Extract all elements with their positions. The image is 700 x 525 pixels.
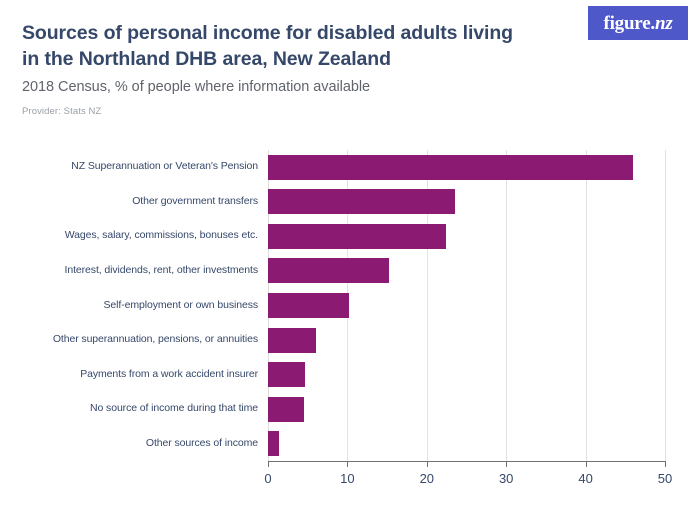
x-tick-label-10: 10 — [340, 471, 354, 486]
bar[interactable] — [268, 258, 389, 283]
bar[interactable] — [268, 293, 349, 318]
x-tick-label-0: 0 — [264, 471, 271, 486]
bar[interactable] — [268, 431, 279, 456]
category-label: NZ Superannuation or Veteran's Pension — [8, 160, 258, 172]
chart-header: figure.nz Sources of personal income for… — [0, 0, 700, 130]
gridline-40 — [586, 150, 587, 461]
bar[interactable] — [268, 224, 446, 249]
category-label: Other government transfers — [8, 195, 258, 207]
category-label: No source of income during that time — [8, 402, 258, 414]
logo-suffix-text: nz — [655, 13, 673, 34]
x-tick-label-50: 50 — [658, 471, 672, 486]
x-tick-0 — [268, 461, 269, 467]
category-label: Payments from a work accident insurer — [8, 368, 258, 380]
x-tick-50 — [665, 461, 666, 467]
gridline-30 — [506, 150, 507, 461]
chart-page: figure.nz Sources of personal income for… — [0, 0, 700, 525]
x-tick-30 — [506, 461, 507, 467]
x-axis-line — [268, 461, 665, 462]
x-tick-20 — [427, 461, 428, 467]
bar-chart: 01020304050 NZ Superannuation or Veteran… — [0, 140, 700, 525]
plot-area — [268, 150, 665, 461]
provider-label: Provider: Stats NZ — [22, 106, 101, 117]
logo-text: figure.nz — [603, 14, 672, 33]
category-label: Other sources of income — [8, 437, 258, 449]
gridline-50 — [665, 150, 666, 461]
page-title: Sources of personal income for disabled … — [22, 20, 522, 72]
x-tick-10 — [347, 461, 348, 467]
bar[interactable] — [268, 155, 633, 180]
bar[interactable] — [268, 328, 316, 353]
x-tick-label-30: 30 — [499, 471, 513, 486]
bar[interactable] — [268, 362, 305, 387]
logo-main-text: figure. — [603, 13, 655, 34]
x-tick-label-20: 20 — [420, 471, 434, 486]
figurenz-logo[interactable]: figure.nz — [588, 6, 688, 40]
category-label: Other superannuation, pensions, or annui… — [8, 333, 258, 345]
category-label: Wages, salary, commissions, bonuses etc. — [8, 229, 258, 241]
bar[interactable] — [268, 397, 304, 422]
bar[interactable] — [268, 189, 455, 214]
x-tick-label-40: 40 — [578, 471, 592, 486]
category-label: Interest, dividends, rent, other investm… — [8, 264, 258, 276]
category-label: Self-employment or own business — [8, 299, 258, 311]
page-subtitle: 2018 Census, % of people where informati… — [22, 79, 562, 95]
x-tick-40 — [586, 461, 587, 467]
